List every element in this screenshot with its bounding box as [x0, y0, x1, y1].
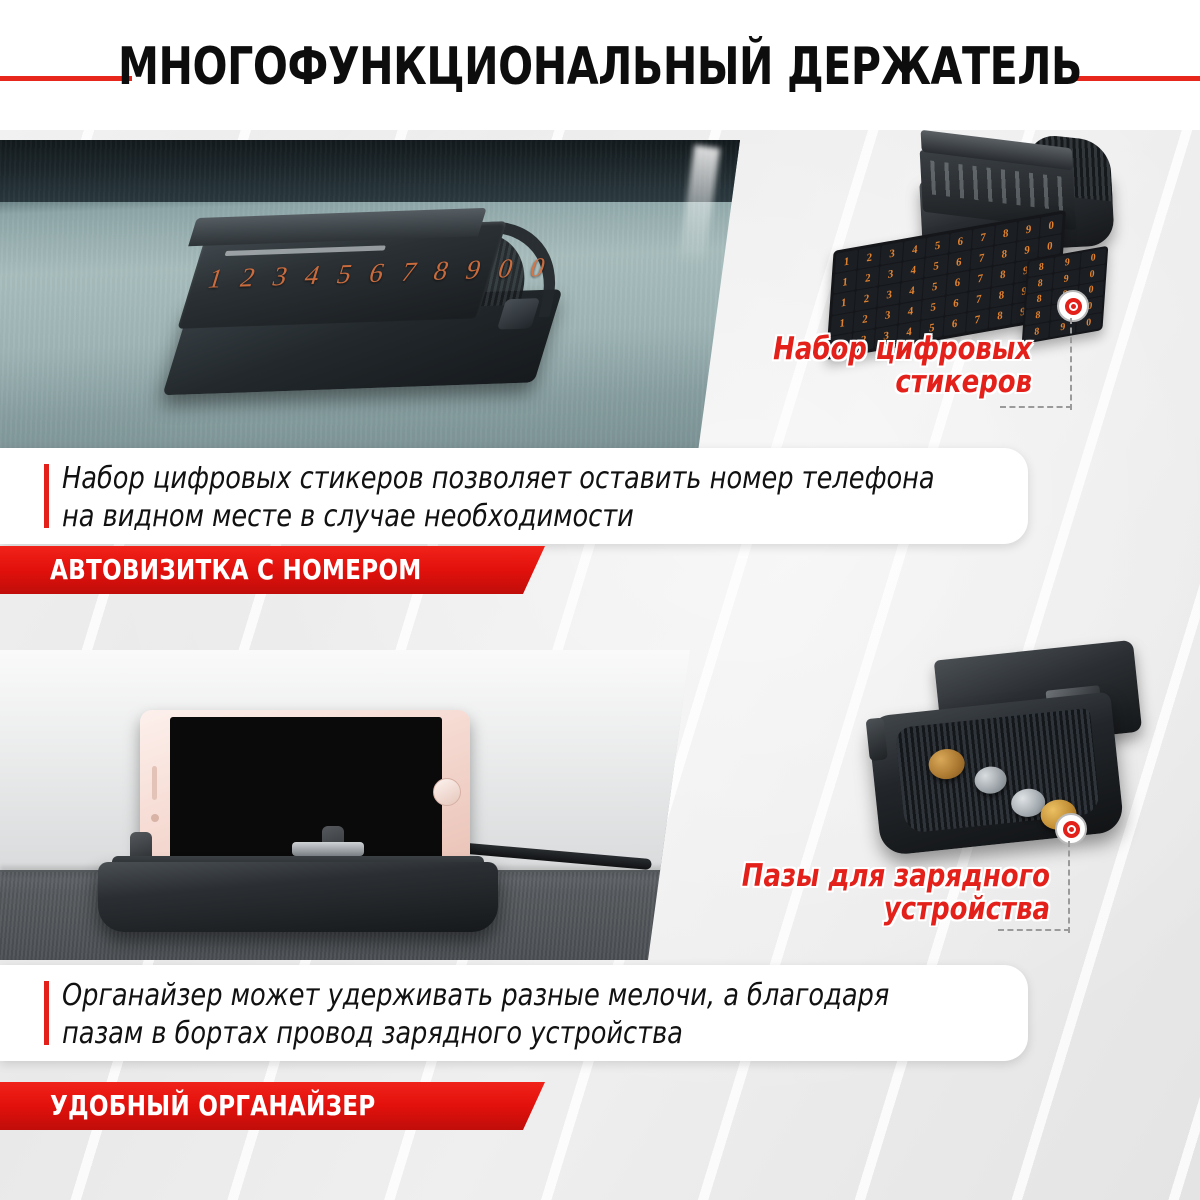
- organizer-side-slot: [866, 717, 888, 761]
- sticker-digit: 6: [944, 292, 967, 316]
- banner-auto-card: АВТОВИЗИТКА С НОМЕРОМ: [0, 546, 545, 594]
- photo-auto-card: 1 2 3 4 5 6 7 8 9 0 0: [0, 140, 740, 452]
- phone-volume-buttons: [152, 766, 157, 800]
- sticker-digit: 4: [900, 279, 923, 303]
- callout-label-sticker-set: Набор цифровых стикеров: [641, 333, 1032, 400]
- sticker-digit: 8: [991, 263, 1014, 287]
- sticker-digit: 5: [922, 296, 945, 320]
- sticker-digit: 3: [878, 283, 901, 307]
- parking-card-device: 1 2 3 4 5 6 7 8 9 0 0: [172, 193, 569, 406]
- sticker-digit: 1: [832, 291, 855, 315]
- banner-label-organizer: УДОБНЫЙ ОРГАНАЙЗЕР: [50, 1089, 375, 1123]
- description-card-auto-card: Набор цифровых стикеров позволяет остави…: [0, 448, 1028, 544]
- sticker-digit: 4: [899, 300, 922, 324]
- sticker-digit: 3: [876, 304, 899, 328]
- product-shot-organizer: [868, 650, 1138, 870]
- header: МНОГОФУНКЦИОНАЛЬНЫЙ ДЕРЖАТЕЛЬ: [0, 0, 1200, 130]
- phone-side-port: [151, 814, 159, 822]
- description-text-auto-card: Набор цифровых стикеров позволяет остави…: [62, 460, 946, 536]
- bullseye-marker-icon-2: [1055, 813, 1087, 845]
- infographic-page: МНОГОФУНКЦИОНАЛЬНЫЙ ДЕРЖАТЕЛЬ 1 2 3 4 5 …: [0, 0, 1200, 1200]
- sticker-digit: 7: [969, 267, 992, 291]
- sticker-digit: 5: [923, 275, 946, 299]
- phone-holder-2: [98, 862, 498, 932]
- description-text-organizer: Органайзер может удерживать разные мелоч…: [62, 977, 946, 1053]
- callout-leader-line-1-horizontal: [1000, 406, 1072, 408]
- callout-label-charger-slots: Пазы для зарядного устройства: [641, 860, 1050, 927]
- phone-home-button: [433, 778, 461, 806]
- callout-leader-line-2-horizontal: [998, 929, 1070, 931]
- description-accent-bar-2: [44, 981, 49, 1045]
- description-accent-bar-1: [44, 464, 49, 528]
- bullseye-marker-icon-1: [1057, 290, 1089, 322]
- sticker-digit: 6: [946, 271, 969, 295]
- callout-leader-line-1: [1070, 318, 1072, 410]
- sticker-digit: 8: [988, 305, 1011, 329]
- sticker-digit: 7: [967, 288, 990, 312]
- callout-leader-line-2: [1068, 841, 1070, 933]
- page-title: МНОГОФУНКЦИОНАЛЬНЫЙ ДЕРЖАТЕЛЬ: [72, 41, 1128, 93]
- banner-organizer: УДОБНЫЙ ОРГАНАЙЗЕР: [0, 1082, 545, 1130]
- sticker-digit: 2: [855, 287, 878, 311]
- sticker-digit: 7: [966, 309, 989, 333]
- photo-organizer: [0, 650, 690, 960]
- sticker-digit: 8: [990, 284, 1013, 308]
- description-card-organizer: Органайзер может удерживать разные мелоч…: [0, 965, 1028, 1061]
- charging-cable-connector: [292, 842, 364, 856]
- sticker-digit: 2: [853, 308, 876, 332]
- banner-label-auto-card: АВТОВИЗИТКА С НОМЕРОМ: [50, 553, 421, 587]
